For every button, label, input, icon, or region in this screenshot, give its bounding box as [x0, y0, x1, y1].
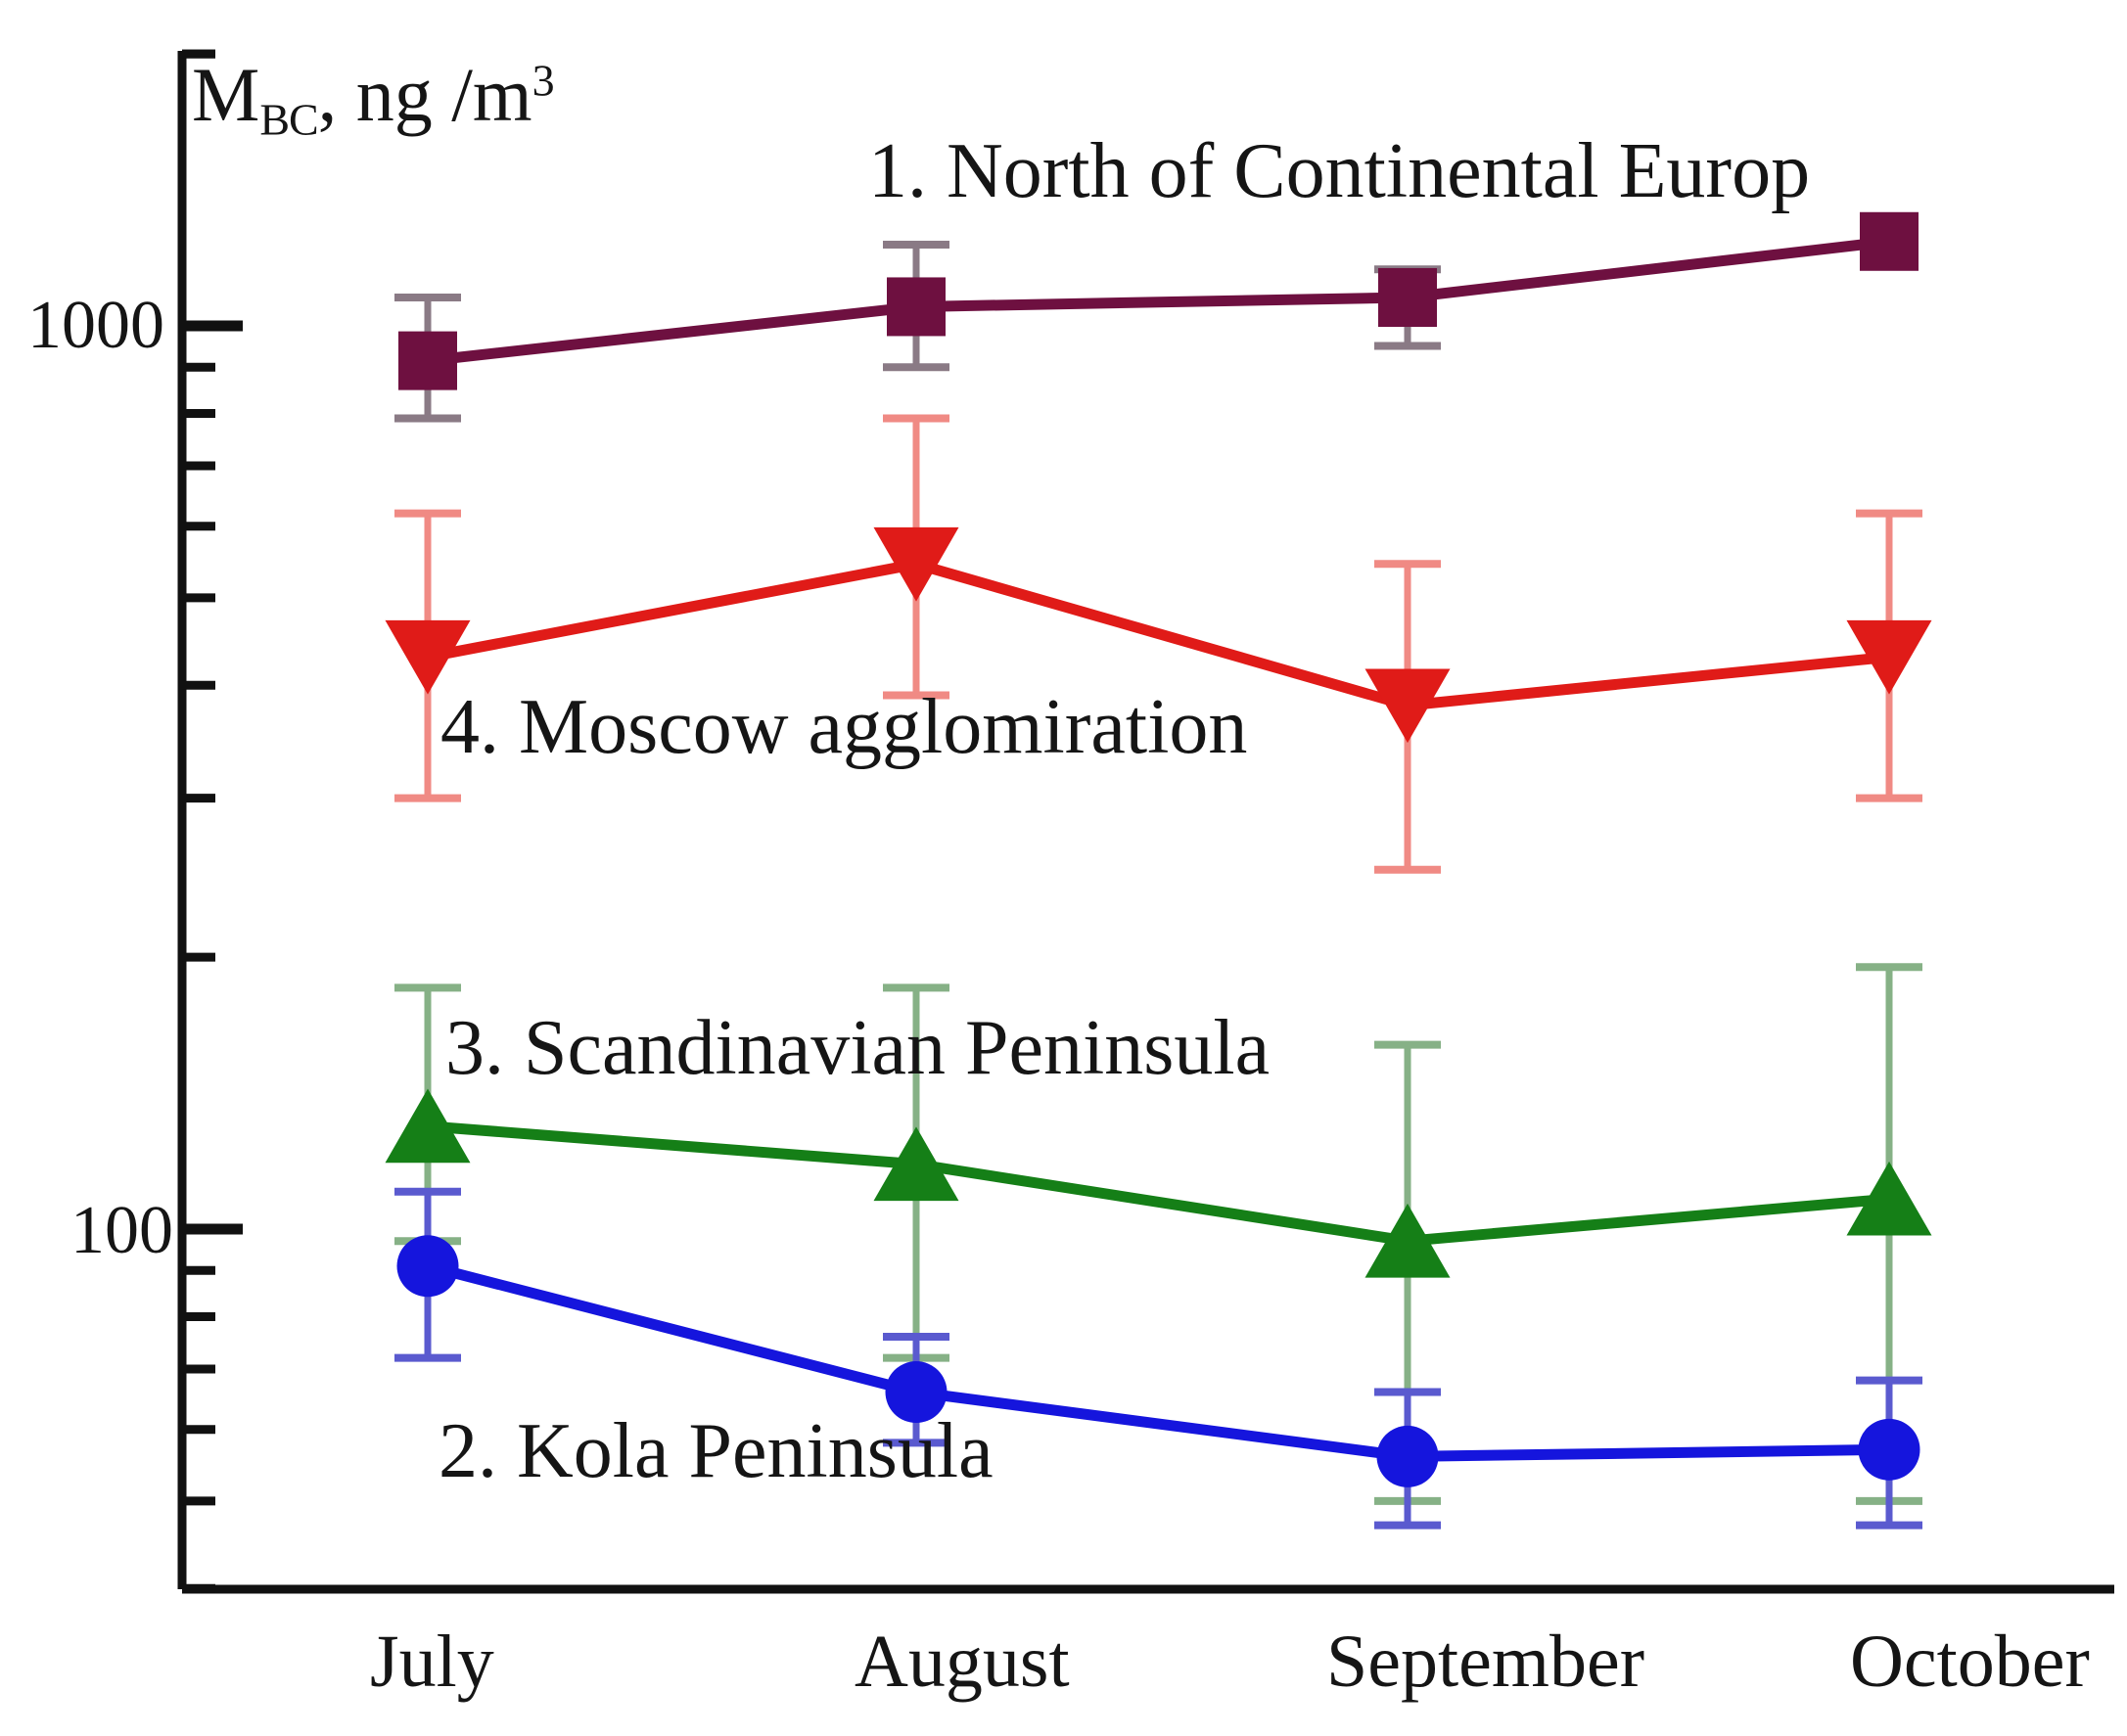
marker-circle: [1377, 1426, 1439, 1487]
y-tick-label-100: 100: [70, 1192, 173, 1270]
series-line: [428, 242, 1889, 361]
series-series1: [394, 212, 1919, 419]
marker-square: [1860, 212, 1919, 271]
y-axis-title-rest: , ng /m: [318, 52, 532, 137]
marker-square: [398, 332, 457, 390]
y-axis-title: MBC, ng /m3: [192, 51, 555, 146]
series-label-kola-peninsula: 2. Kola Peninsula: [439, 1407, 994, 1496]
series-line: [428, 1126, 1889, 1241]
series-series4: [386, 418, 1932, 869]
series-label-moscow-agglomeration: 4. Moscow agglomiration: [440, 683, 1247, 772]
y-axis-title-superscript: 3: [532, 56, 555, 106]
marker-circle: [1859, 1419, 1920, 1481]
x-tick-label-october: October: [1850, 1620, 2090, 1705]
series-label-scandinavian-peninsula: 3. Scandinavian Peninsula: [445, 1004, 1270, 1093]
marker-square: [1378, 268, 1437, 327]
marker-square: [887, 277, 946, 336]
chart-canvas: [0, 0, 2127, 1736]
series-label-north-continental-europe: 1. North of Continental Europ: [868, 127, 1810, 216]
data-series: [386, 212, 1932, 1526]
x-tick-label-august: August: [855, 1620, 1070, 1705]
y-axis-title-main: M: [192, 52, 259, 137]
axes: [182, 51, 2114, 1589]
marker-circle: [397, 1235, 459, 1297]
chart-figure: MBC, ng /m3 1000 100 July August Septemb…: [0, 0, 2127, 1736]
x-tick-label-september: September: [1326, 1620, 1644, 1705]
y-tick-label-1000: 1000: [27, 287, 164, 365]
y-axis-title-subscript: BC: [259, 95, 317, 145]
x-tick-label-july: July: [370, 1620, 494, 1705]
